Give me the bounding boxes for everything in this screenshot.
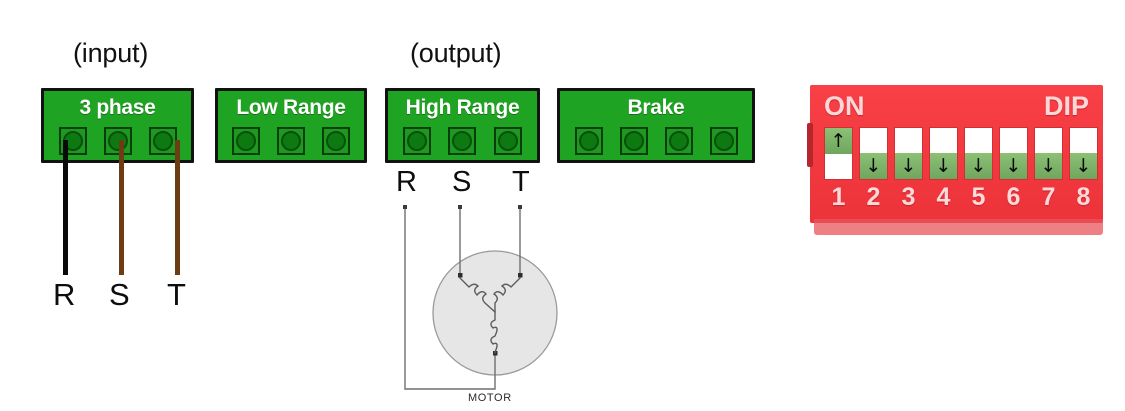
dip-switch-side-tab bbox=[807, 123, 813, 167]
terminal-screw-icon bbox=[452, 131, 472, 151]
dip-number-2: 2 bbox=[859, 183, 888, 211]
dip-knob-6[interactable]: ↓ bbox=[1000, 153, 1027, 179]
dip-switch-row: ↑ ↓ ↓ ↓ ↓ ↓ ↓ ↓ bbox=[824, 127, 1098, 180]
terminal-block-brake[interactable]: Brake bbox=[557, 88, 755, 163]
input-wire-t bbox=[175, 140, 180, 275]
terminal-block-label: High Range bbox=[406, 97, 520, 118]
input-wire-r bbox=[63, 140, 68, 275]
terminal-low-range-1[interactable] bbox=[232, 127, 260, 155]
dip-switch-4[interactable]: ↓ bbox=[929, 127, 958, 180]
dip-knob-3[interactable]: ↓ bbox=[895, 153, 922, 179]
dip-switch-7[interactable]: ↓ bbox=[1034, 127, 1063, 180]
motor-node-r-top bbox=[403, 205, 407, 209]
dip-number-6: 6 bbox=[999, 183, 1028, 211]
terminal-three-phase-3[interactable] bbox=[149, 127, 177, 155]
input-phase-label-r: R bbox=[53, 279, 75, 310]
terminal-screw-icon bbox=[407, 131, 427, 151]
arrow-up-icon: ↑ bbox=[831, 132, 847, 151]
terminal-brake-1[interactable] bbox=[575, 127, 603, 155]
terminal-screw-icon bbox=[669, 131, 689, 151]
motor-node-s bbox=[458, 273, 463, 278]
diagram-canvas: (input) (output) 3 phase Low Range High … bbox=[0, 0, 1125, 411]
terminal-low-range-2[interactable] bbox=[277, 127, 305, 155]
terminal-high-range-1[interactable] bbox=[403, 127, 431, 155]
dip-number-5: 5 bbox=[964, 183, 993, 211]
dip-knob-7[interactable]: ↓ bbox=[1035, 153, 1062, 179]
terminal-brake-2[interactable] bbox=[620, 127, 648, 155]
terminal-screw-icon bbox=[281, 131, 301, 151]
dip-switch-shadow bbox=[814, 219, 1103, 235]
terminal-row bbox=[218, 127, 364, 155]
arrow-down-icon: ↓ bbox=[936, 157, 952, 176]
terminal-three-phase-2[interactable] bbox=[104, 127, 132, 155]
dip-knob-1[interactable]: ↑ bbox=[825, 128, 852, 154]
terminal-block-high-range[interactable]: High Range bbox=[385, 88, 540, 163]
dip-switch-5[interactable]: ↓ bbox=[964, 127, 993, 180]
terminal-screw-icon bbox=[108, 131, 128, 151]
terminal-high-range-2[interactable] bbox=[448, 127, 476, 155]
dip-switch[interactable]: ON DIP ↑ ↓ ↓ ↓ ↓ ↓ ↓ ↓ 1 2 3 4 5 6 7 8 bbox=[810, 85, 1103, 237]
arrow-down-icon: ↓ bbox=[901, 157, 917, 176]
dip-number-4: 4 bbox=[929, 183, 958, 211]
dip-knob-5[interactable]: ↓ bbox=[965, 153, 992, 179]
terminal-brake-3[interactable] bbox=[665, 127, 693, 155]
terminal-block-label: 3 phase bbox=[79, 97, 155, 118]
dip-on-label: ON bbox=[824, 93, 865, 120]
dip-number-row: 1 2 3 4 5 6 7 8 bbox=[824, 183, 1098, 211]
dip-switch-1[interactable]: ↑ bbox=[824, 127, 853, 180]
terminal-block-low-range[interactable]: Low Range bbox=[215, 88, 367, 163]
terminal-row bbox=[388, 127, 537, 155]
dip-number-1: 1 bbox=[824, 183, 853, 211]
motor-node-s-top bbox=[458, 205, 462, 209]
terminal-block-label: Low Range bbox=[236, 97, 345, 118]
caption-output: (output) bbox=[410, 38, 501, 69]
terminal-screw-icon bbox=[153, 131, 173, 151]
motor-schematic bbox=[370, 175, 600, 400]
dip-number-7: 7 bbox=[1034, 183, 1063, 211]
terminal-high-range-3[interactable] bbox=[494, 127, 522, 155]
dip-knob-8[interactable]: ↓ bbox=[1070, 153, 1097, 179]
arrow-down-icon: ↓ bbox=[1041, 157, 1057, 176]
terminal-screw-icon bbox=[236, 131, 256, 151]
arrow-down-icon: ↓ bbox=[971, 157, 987, 176]
dip-number-3: 3 bbox=[894, 183, 923, 211]
dip-knob-4[interactable]: ↓ bbox=[930, 153, 957, 179]
terminal-screw-icon bbox=[498, 131, 518, 151]
input-wire-s bbox=[119, 140, 124, 275]
terminal-brake-4[interactable] bbox=[710, 127, 738, 155]
dip-brand-label: DIP bbox=[1044, 93, 1089, 120]
caption-input: (input) bbox=[73, 38, 148, 69]
dip-switch-6[interactable]: ↓ bbox=[999, 127, 1028, 180]
motor-node-t-top bbox=[518, 205, 522, 209]
arrow-down-icon: ↓ bbox=[1006, 157, 1022, 176]
arrow-down-icon: ↓ bbox=[866, 157, 882, 176]
terminal-row bbox=[560, 127, 752, 155]
motor-label: MOTOR bbox=[468, 392, 512, 404]
terminal-screw-icon bbox=[326, 131, 346, 151]
arrow-down-icon: ↓ bbox=[1076, 157, 1092, 176]
input-phase-label-s: S bbox=[109, 279, 130, 310]
terminal-screw-icon bbox=[579, 131, 599, 151]
terminal-screw-icon bbox=[624, 131, 644, 151]
terminal-block-label: Brake bbox=[628, 97, 685, 118]
dip-knob-2[interactable]: ↓ bbox=[860, 153, 887, 179]
terminal-screw-icon bbox=[714, 131, 734, 151]
dip-switch-2[interactable]: ↓ bbox=[859, 127, 888, 180]
dip-switch-8[interactable]: ↓ bbox=[1069, 127, 1098, 180]
terminal-low-range-3[interactable] bbox=[322, 127, 350, 155]
motor-node-t bbox=[518, 273, 523, 278]
dip-switch-3[interactable]: ↓ bbox=[894, 127, 923, 180]
input-phase-label-t: T bbox=[167, 279, 186, 310]
dip-number-8: 8 bbox=[1069, 183, 1098, 211]
